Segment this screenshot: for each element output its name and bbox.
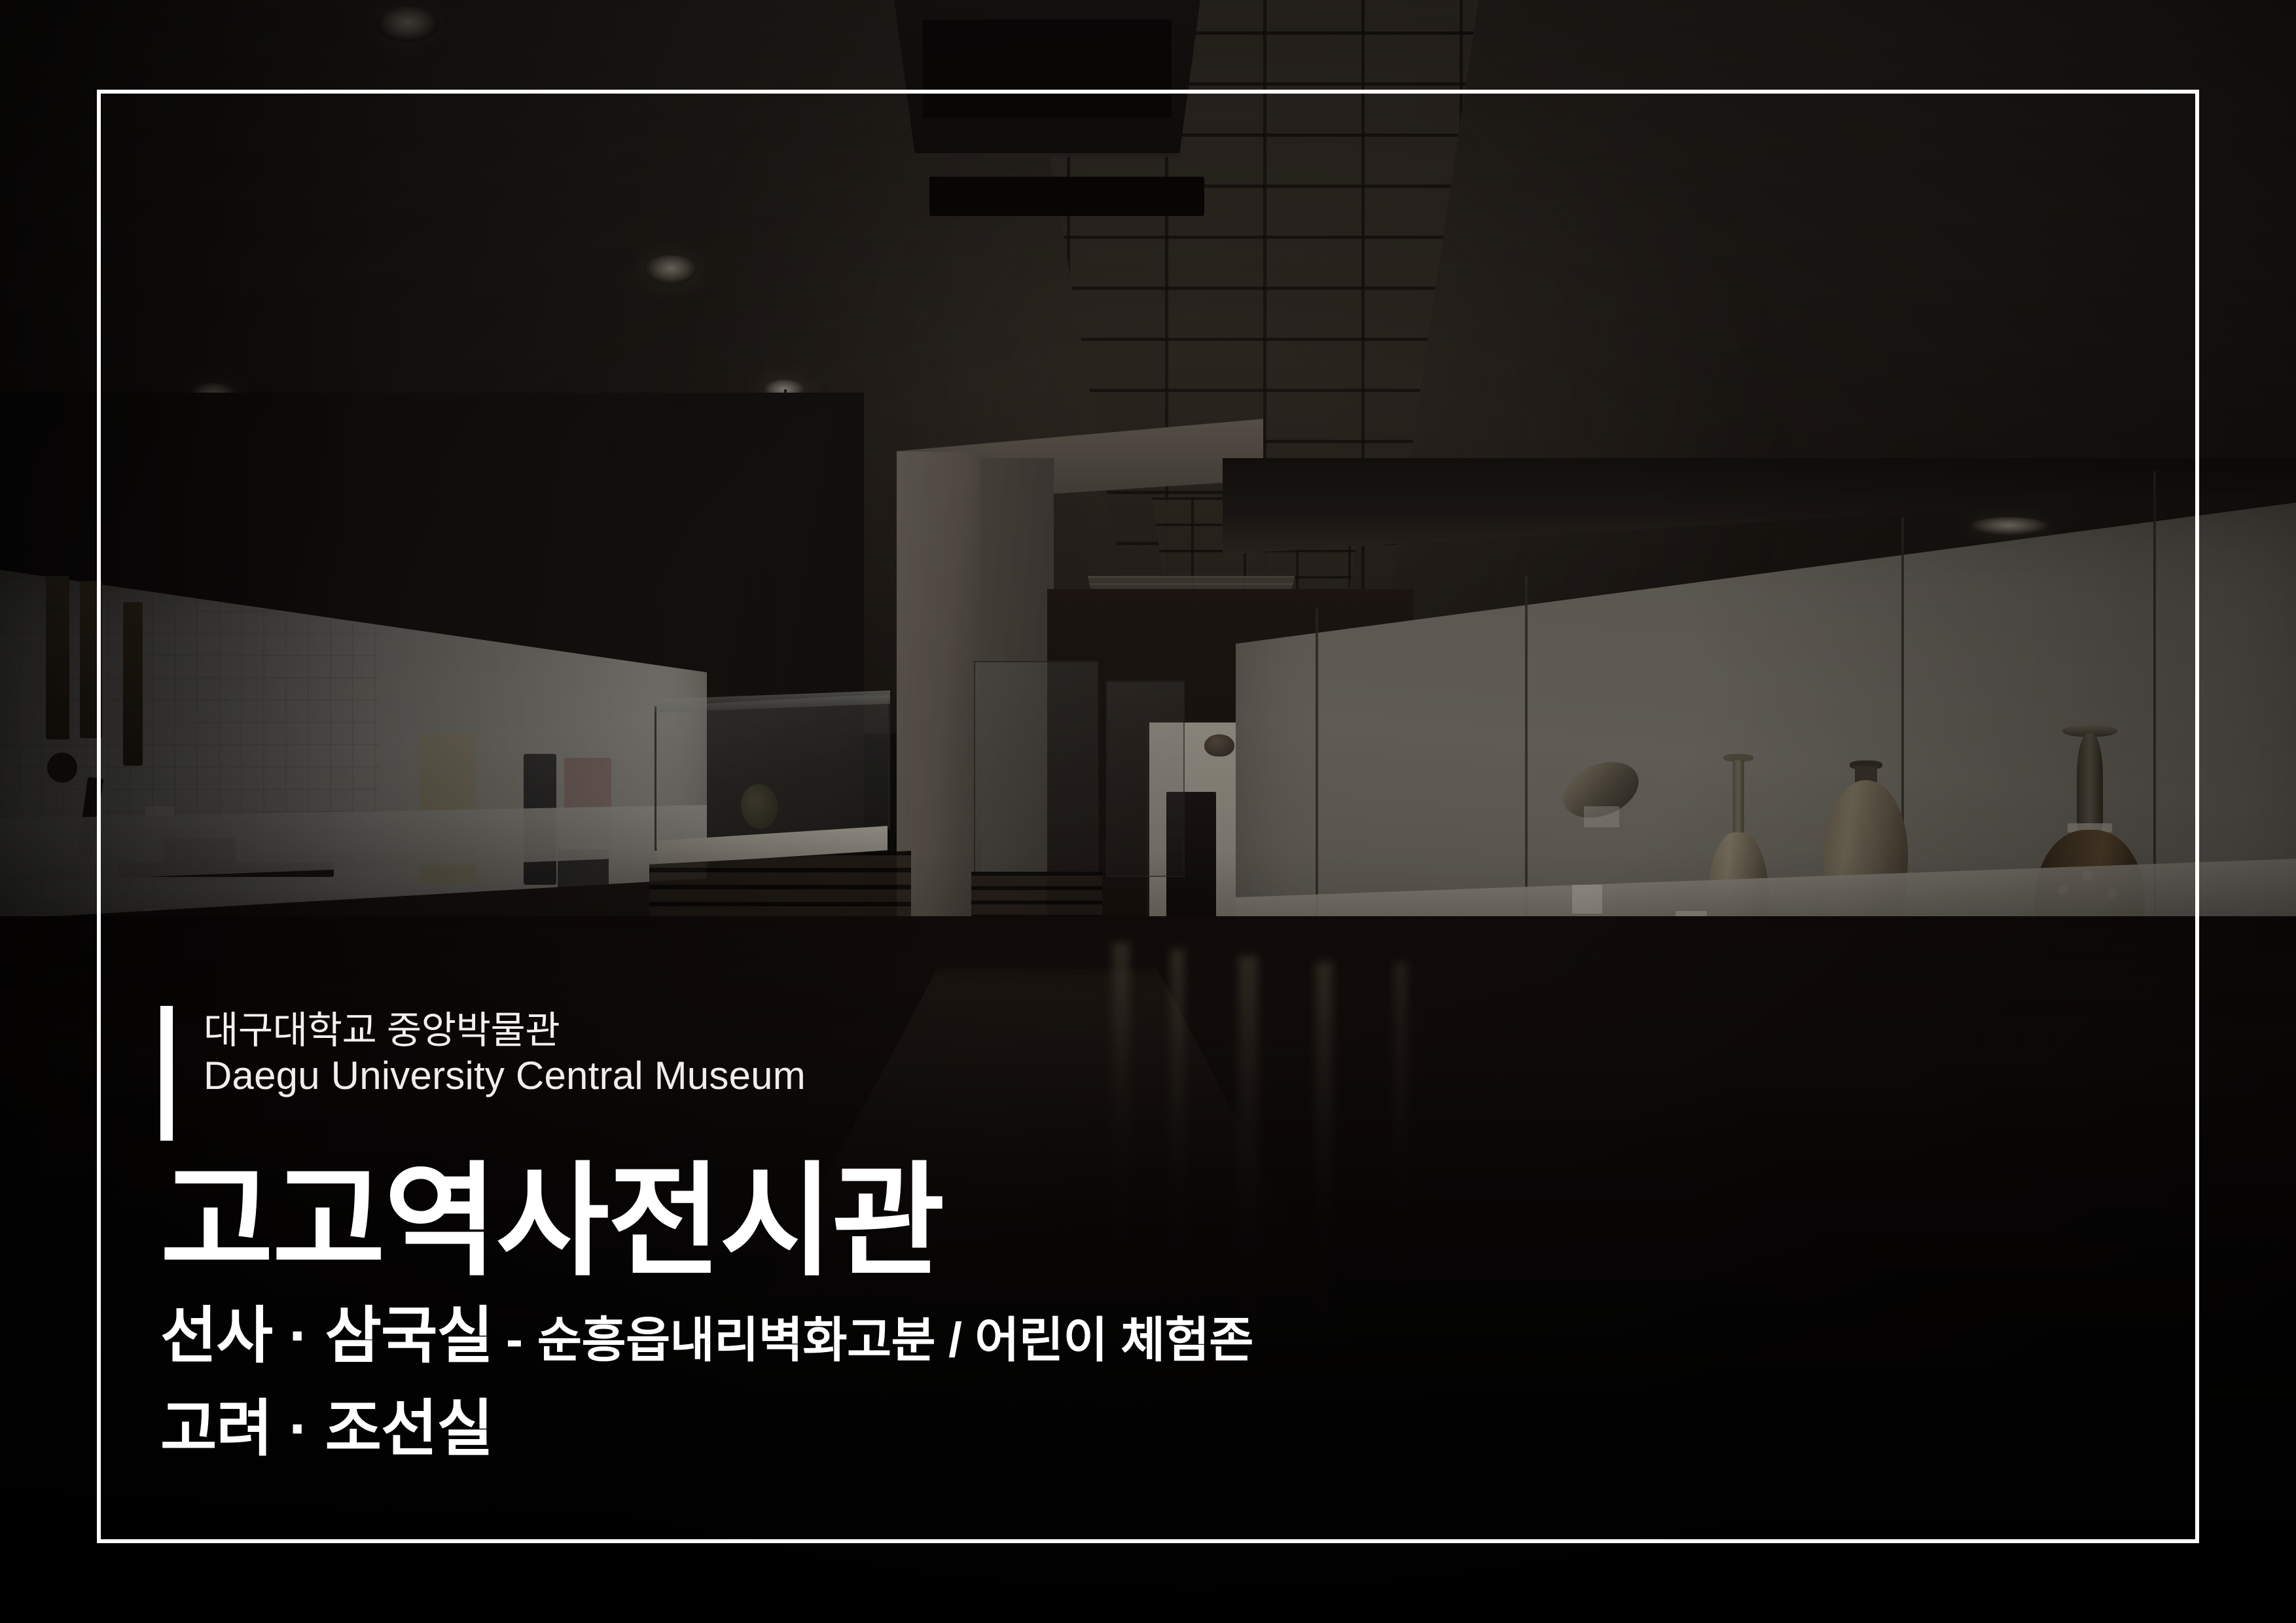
organization-block: 대구대학교 중앙박물관 Daegu University Central Mus… [160,998,1731,1143]
accent-bar [160,1006,173,1141]
room-line-secondary: 고려 · 조선실 [160,1379,1731,1468]
organization-name-korean: 대구대학교 중앙박물관 [204,998,1731,1053]
page-title: 고고역사전시관 [160,1155,1731,1288]
room-detail: 순흥읍내리벽화고분 / 어린이 체험존 [537,1311,1253,1370]
room-name: 선사 · 삼국실 [160,1298,493,1374]
room-list: 선사 · 삼국실 - 순흥읍내리벽화고분 / 어린이 체험존 고려 · 조선실 [160,1298,1731,1468]
room-line-primary: 선사 · 삼국실 - 순흥읍내리벽화고분 / 어린이 체험존 [160,1298,1731,1374]
organization-name-english: Daegu University Central Museum [204,1053,1731,1099]
caption-block: 대구대학교 중앙박물관 Daegu University Central Mus… [160,998,1731,1468]
room-separator: - [493,1308,537,1370]
museum-banner: 대구대학교 중앙박물관 Daegu University Central Mus… [0,0,2296,1623]
